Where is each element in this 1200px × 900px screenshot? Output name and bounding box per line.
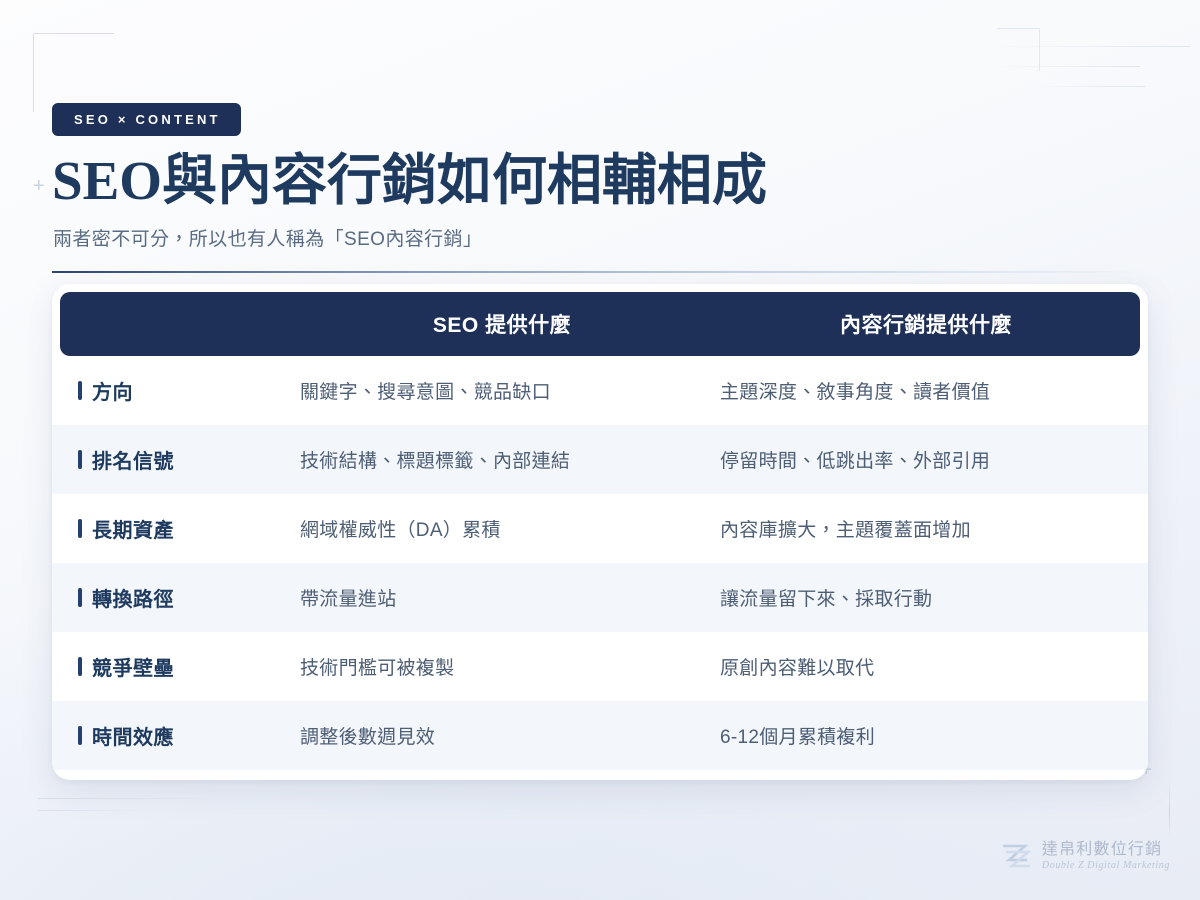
eyebrow-badge: SEO × CONTENT [52, 103, 241, 136]
row-label: 長期資產 [60, 514, 292, 543]
row-cell-content: 停留時間、低跳出率、外部引用 [712, 446, 1140, 473]
table-header-row: SEO 提供什麼 內容行銷提供什麼 [60, 292, 1140, 356]
page-subtitle: 兩者密不可分，所以也有人稱為「SEO內容行銷」 [53, 224, 1152, 251]
row-accent-bar-icon [78, 450, 82, 469]
slide-canvas: + + SEO × CONTENT SEO與內容行銷如何相輔相成 兩者密不可分，… [0, 0, 1200, 900]
row-label-text: 競爭壁壘 [92, 652, 174, 681]
row-cell-content: 主題深度、敘事角度、讀者價值 [712, 377, 1140, 404]
comparison-table-card: SEO 提供什麼 內容行銷提供什麼 方向 關鍵字、搜尋意圖、競品缺口 主題深度、… [52, 284, 1148, 780]
row-accent-bar-icon [78, 657, 82, 676]
row-cell-seo: 帶流量進站 [292, 584, 712, 611]
decorative-lines-bottom-left [38, 798, 238, 822]
table-row: 競爭壁壘 技術門檻可被複製 原創內容難以取代 [52, 632, 1148, 701]
row-accent-bar-icon [78, 726, 82, 745]
row-cell-seo: 技術門檻可被複製 [292, 653, 712, 680]
row-cell-seo: 網域權威性（DA）累積 [292, 515, 712, 542]
row-label-text: 時間效應 [92, 721, 174, 750]
row-cell-content: 讓流量留下來、採取行動 [712, 584, 1140, 611]
table-row: 長期資產 網域權威性（DA）累積 內容庫擴大，主題覆蓋面增加 [52, 494, 1148, 563]
column-header-seo: SEO 提供什麼 [292, 309, 712, 339]
header-block: SEO × CONTENT SEO與內容行銷如何相輔相成 兩者密不可分，所以也有… [52, 103, 1152, 273]
brand-logo-text: 達帛利數位行銷 Double Z Digital Marketing [1042, 841, 1170, 872]
column-header-content: 內容行銷提供什麼 [712, 309, 1140, 339]
page-title: SEO與內容行銷如何相輔相成 [52, 150, 1152, 212]
brand-logo: 達帛利數位行銷 Double Z Digital Marketing [998, 841, 1170, 872]
row-cell-content: 原創內容難以取代 [712, 653, 1140, 680]
row-accent-bar-icon [78, 519, 82, 538]
corner-bracket-top-left-icon [33, 33, 114, 112]
header-divider [52, 271, 1147, 273]
brand-name-en: Double Z Digital Marketing [1042, 859, 1170, 872]
row-label: 競爭壁壘 [60, 652, 292, 681]
table-row: 方向 關鍵字、搜尋意圖、競品缺口 主題深度、敘事角度、讀者價值 [52, 356, 1148, 425]
row-accent-bar-icon [78, 381, 82, 400]
decorative-lines-top-right [990, 46, 1200, 106]
row-label: 方向 [60, 376, 292, 405]
row-label: 轉換路徑 [60, 583, 292, 612]
double-z-logo-icon [998, 841, 1032, 871]
row-label-text: 轉換路徑 [92, 583, 174, 612]
row-label: 排名信號 [60, 445, 292, 474]
row-label-text: 方向 [92, 376, 133, 405]
row-cell-content: 內容庫擴大，主題覆蓋面增加 [712, 515, 1140, 542]
row-label: 時間效應 [60, 721, 292, 750]
row-cell-content: 6-12個月累積複利 [712, 722, 1140, 749]
row-accent-bar-icon [78, 588, 82, 607]
table-row: 時間效應 調整後數週見效 6-12個月累積複利 [52, 701, 1148, 770]
decorative-vertical-line-bottom-right [1169, 782, 1171, 840]
table-row: 轉換路徑 帶流量進站 讓流量留下來、採取行動 [52, 563, 1148, 632]
row-label-text: 排名信號 [92, 445, 174, 474]
row-cell-seo: 關鍵字、搜尋意圖、競品缺口 [292, 377, 712, 404]
plus-mark-left-icon: + [33, 176, 45, 196]
row-label-text: 長期資產 [92, 514, 174, 543]
row-cell-seo: 調整後數週見效 [292, 722, 712, 749]
brand-name-zh: 達帛利數位行銷 [1042, 841, 1170, 859]
row-cell-seo: 技術結構、標題標籤、內部連結 [292, 446, 712, 473]
table-row: 排名信號 技術結構、標題標籤、內部連結 停留時間、低跳出率、外部引用 [52, 425, 1148, 494]
